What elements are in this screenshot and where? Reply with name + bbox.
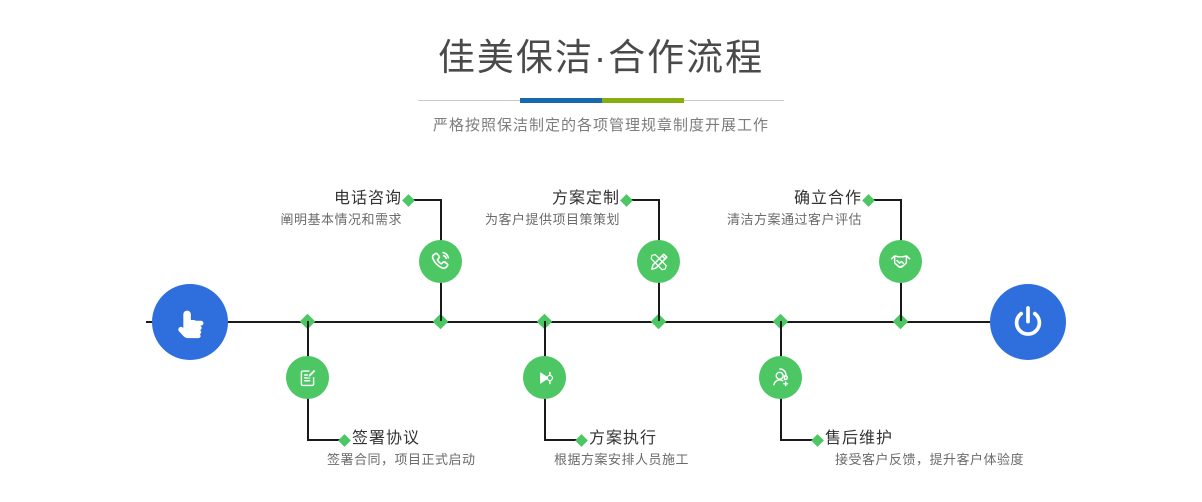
step-3-title: 方案定制 (398, 188, 620, 210)
step-1-icon-badge (419, 240, 462, 283)
step-1-desc: 阐明基本情况和需求 (180, 210, 402, 230)
step-5-connector-tip (862, 194, 875, 207)
page-subtitle: 严格按照保洁制定的各项管理规章制度开展工作 (0, 116, 1202, 136)
process-flow-infographic: 佳美保洁·合作流程 严格按照保洁制定的各项管理规章制度开展工作 (0, 0, 1202, 502)
step-6-title: 售后维护 (825, 428, 1085, 450)
step-4-desc: 根据方案安排人员施工 (554, 450, 829, 470)
step-6-desc: 接受客户反馈，提升客户体验度 (835, 450, 1085, 470)
step-5-label: 确立合作 清洁方案通过客户评估 (640, 188, 862, 230)
power-icon (1007, 301, 1049, 343)
step-1-label: 电话咨询 阐明基本情况和需求 (180, 188, 402, 230)
step-2-connector-tip (338, 434, 351, 447)
pointing-hand-icon (170, 302, 210, 342)
timeline-end-node (990, 284, 1066, 360)
pencil-ruler-icon (647, 250, 671, 274)
step-1-title: 电话咨询 (180, 188, 402, 210)
play-execute-icon (533, 366, 557, 390)
page-title: 佳美保洁·合作流程 (0, 36, 1202, 80)
timeline-start-node (152, 284, 228, 360)
handshake-icon (888, 249, 913, 274)
step-5-desc: 清洁方案通过客户评估 (640, 210, 862, 230)
header: 佳美保洁·合作流程 严格按照保洁制定的各项管理规章制度开展工作 (0, 0, 1202, 136)
phone-call-icon (428, 249, 453, 274)
step-3-desc: 为客户提供项目策策划 (398, 210, 620, 230)
step-4-label: 方案执行 根据方案安排人员施工 (589, 428, 829, 470)
title-divider (418, 96, 784, 106)
step-6-label: 售后维护 接受客户反馈，提升客户体验度 (825, 428, 1085, 470)
document-edit-icon (296, 366, 319, 389)
step-6-icon-badge (759, 356, 802, 399)
step-3-label: 方案定制 为客户提供项目策策划 (398, 188, 620, 230)
timeline-axis (146, 321, 1056, 323)
divider-blue-segment (520, 98, 602, 103)
step-2-icon-badge (286, 356, 329, 399)
step-2-desc: 签署合同，项目正式启动 (327, 450, 592, 470)
step-5-title: 确立合作 (640, 188, 862, 210)
divider-green-segment (602, 98, 684, 103)
step-5-icon-badge (879, 240, 922, 283)
customer-service-add-icon (769, 366, 793, 390)
step-3-icon-badge (637, 240, 680, 283)
step-4-icon-badge (523, 356, 566, 399)
step-3-connector-tip (620, 194, 633, 207)
